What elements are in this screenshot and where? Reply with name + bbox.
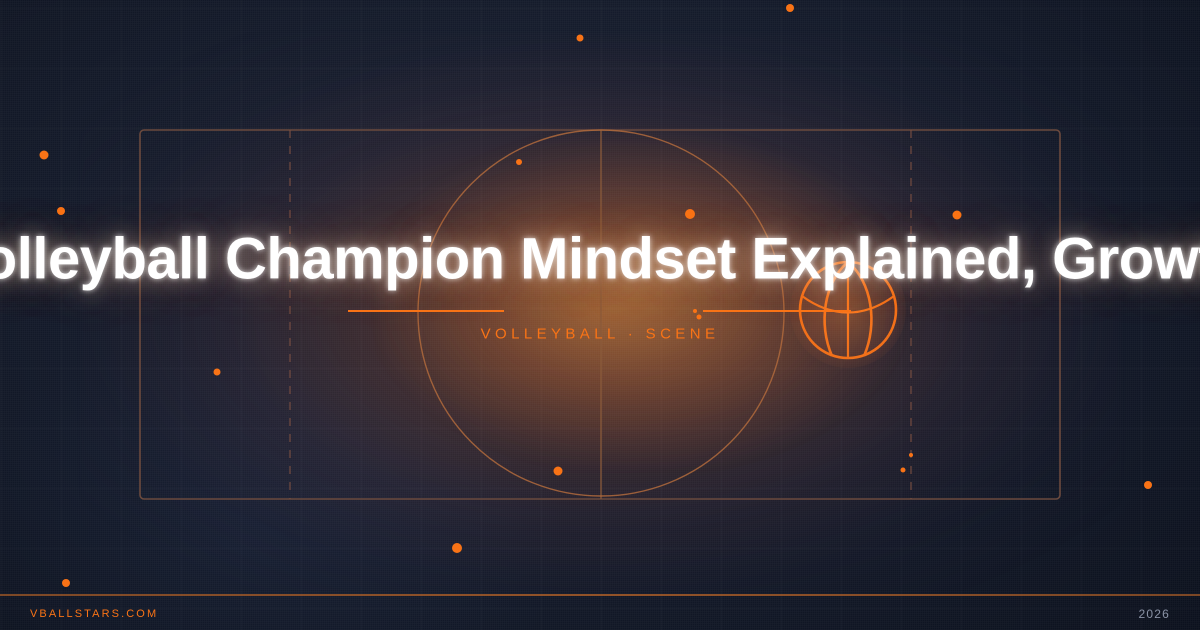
- rule-left: [348, 310, 504, 312]
- rule-right: [703, 310, 851, 312]
- court-boundary: [140, 130, 1060, 499]
- particle-dot: [57, 207, 65, 215]
- page-subtitle: VOLLEYBALL · SCENE: [481, 326, 720, 343]
- particle-dot: [62, 579, 70, 587]
- footer-site-url[interactable]: VBALLSTARS.COM: [30, 608, 158, 620]
- particle-dot: [40, 151, 49, 160]
- subtitle-rules: [0, 310, 1200, 311]
- particle-dot: [554, 467, 563, 476]
- particle-dot: [786, 4, 794, 12]
- particle-dot: [697, 315, 702, 320]
- hero-banner: Volleyball Champion Mindset Explained, G…: [0, 0, 1200, 630]
- rule-dot-right: [693, 309, 697, 313]
- particle-dot: [214, 369, 221, 376]
- particle-dot: [577, 35, 584, 42]
- page-title: Volleyball Champion Mindset Explained, G…: [0, 226, 1200, 293]
- particle-dot: [909, 453, 913, 457]
- particle-dot: [901, 468, 906, 473]
- footer-divider: [0, 594, 1200, 596]
- volleyball-court-outline: [0, 0, 1200, 630]
- particle-dot: [953, 211, 962, 220]
- particle-dot: [685, 209, 695, 219]
- footer-year: 2026: [1139, 607, 1171, 621]
- particle-dot: [1144, 481, 1152, 489]
- particle-dot: [452, 543, 462, 553]
- particle-dot: [516, 159, 522, 165]
